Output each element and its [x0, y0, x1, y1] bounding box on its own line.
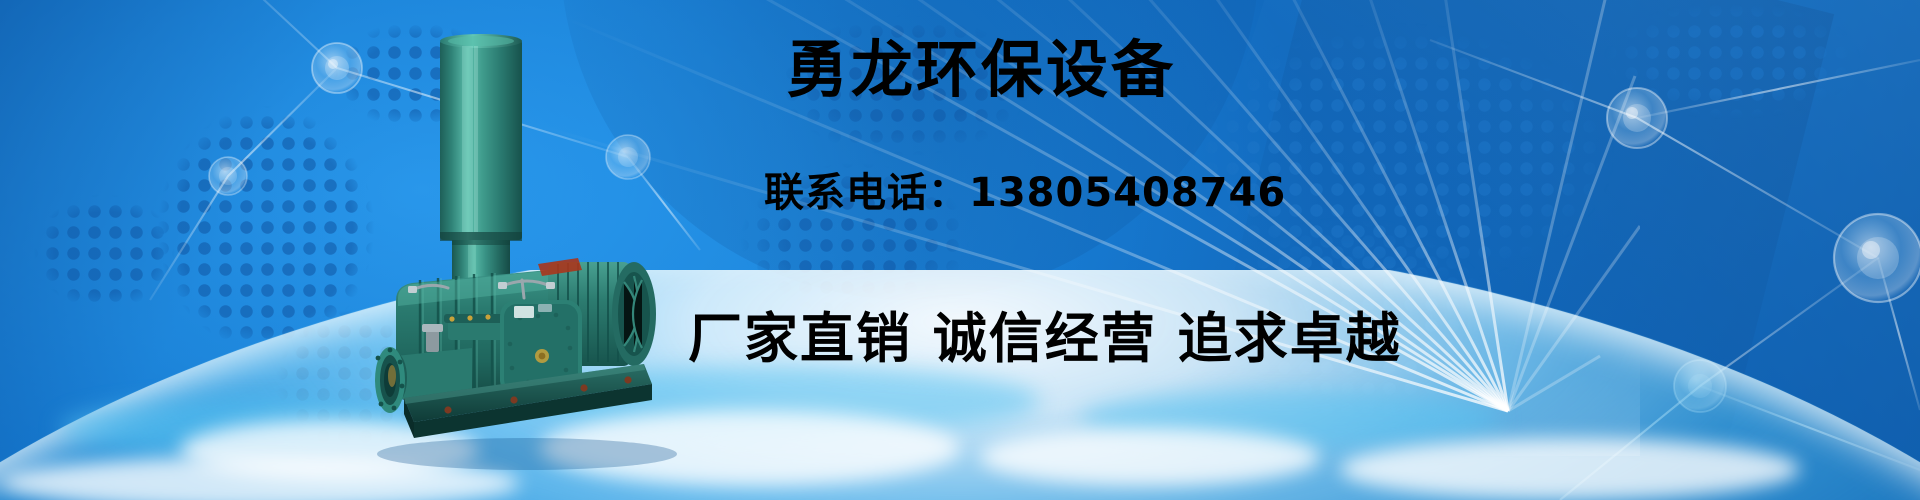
globe-cloud — [1340, 438, 1800, 500]
contact-phone-line: 联系电话：13805408746 — [764, 160, 1286, 218]
node-left-lower — [209, 157, 247, 195]
page-title: 勇龙环保设备 — [786, 36, 1176, 104]
company-slogan: 厂家直销 诚信经营 追求卓越 — [688, 294, 1402, 373]
promotional-banner: 勇龙环保设备 联系电话：13805408746 厂家直销 诚信经营 追求卓越 — [0, 0, 1920, 500]
roots-blower-product-image — [352, 18, 682, 478]
node-right-upper — [1607, 88, 1667, 148]
globe-cloud — [980, 428, 1320, 486]
silencer-upper — [440, 34, 522, 241]
